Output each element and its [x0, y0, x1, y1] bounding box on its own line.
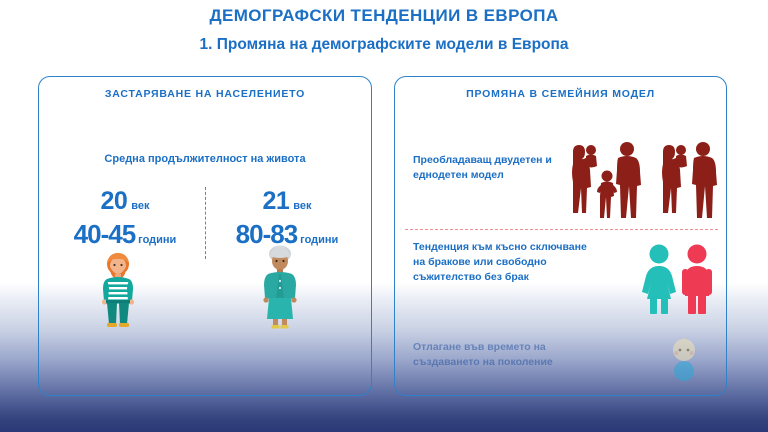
- column-20th-century: 20век 40-45години: [45, 189, 205, 247]
- page-title: ДЕМОГРАФСКИ ТЕНДЕНЦИИ В ЕВРОПА: [0, 6, 768, 26]
- century-number-20: 20: [100, 187, 127, 215]
- century-number-21: 21: [262, 187, 289, 215]
- horizontal-dashed-divider-2: [405, 326, 718, 327]
- century-row-20: 20век: [45, 189, 205, 214]
- century-unit-21: век: [293, 200, 311, 212]
- young-man-figure: [96, 252, 140, 330]
- years-row-20: 40-45години: [45, 221, 205, 247]
- family-silhouettes-icon: [557, 134, 717, 220]
- life-expectancy-label: Средна продължителност на живота: [39, 153, 371, 165]
- years-row-21: 80-83години: [207, 221, 367, 247]
- baby-icon: [667, 335, 701, 383]
- couple-figures-icon: [637, 243, 719, 315]
- elderly-woman-figure: [258, 245, 302, 331]
- years-unit-21: години: [300, 234, 338, 246]
- panel-family-model-change: ПРОМЯНА В СЕМЕЙНИЯ МОДЕЛ Преобладаващ дв…: [394, 76, 727, 396]
- column-21st-century: 21век 80-83години: [207, 189, 367, 247]
- row-label-late-marriage: Тенденция към късно сключване на бракове…: [413, 240, 598, 286]
- years-unit-20: години: [138, 234, 176, 246]
- infographic-canvas: ДЕМОГРАФСКИ ТЕНДЕНЦИИ В ЕВРОПА 1. Промян…: [0, 0, 768, 432]
- panel-right-heading: ПРОМЯНА В СЕМЕЙНИЯ МОДЕЛ: [395, 88, 726, 100]
- row-label-delayed-childbearing: Отлагане във времето на създаването на п…: [413, 340, 598, 370]
- horizontal-dashed-divider-1: [405, 229, 718, 230]
- panel-left-heading: ЗАСТАРЯВАНЕ НА НАСЕЛЕНИЕТО: [39, 88, 371, 100]
- page-subtitle: 1. Промяна на демографските модели в Евр…: [0, 36, 768, 54]
- century-row-21: 21век: [207, 189, 367, 214]
- years-number-20: 40-45: [74, 219, 136, 249]
- vertical-dashed-divider: [205, 187, 206, 259]
- century-unit-20: век: [131, 200, 149, 212]
- panel-population-ageing: ЗАСТАРЯВАНЕ НА НАСЕЛЕНИЕТО Средна продъл…: [38, 76, 372, 396]
